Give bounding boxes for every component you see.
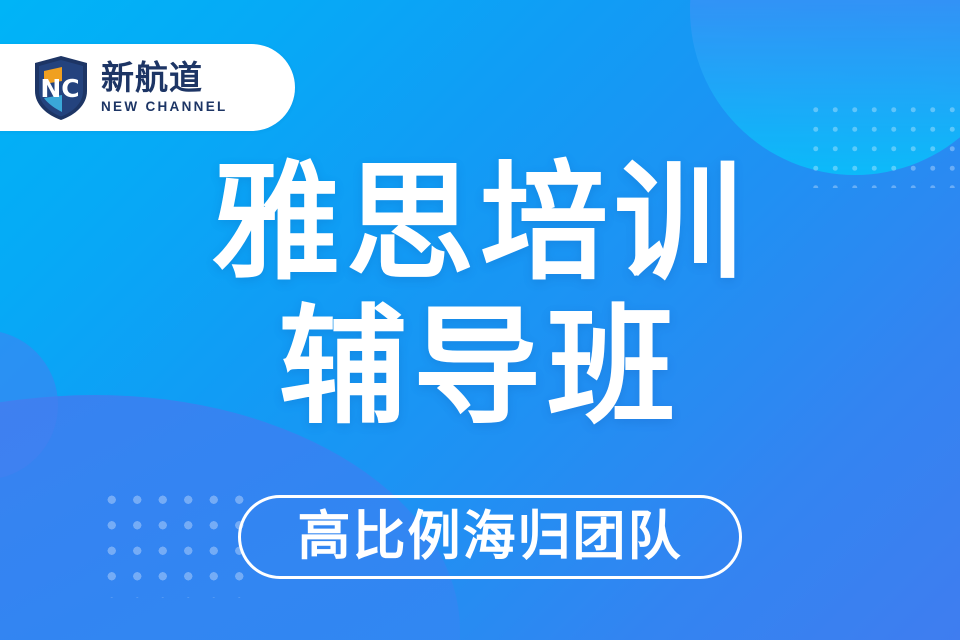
subtitle-pill: 高比例海归团队 <box>238 495 742 579</box>
svg-text:NC: NC <box>40 74 79 103</box>
brand-name-en: NEW CHANNEL <box>101 98 228 115</box>
headline-line-1: 雅思培训 <box>0 148 960 300</box>
headline-block: 雅思培训 辅导班 <box>0 148 960 444</box>
dot-grid-bottom-left <box>95 483 255 598</box>
headline-line-2: 辅导班 <box>0 292 960 444</box>
poster-canvas: NC 新航道 NEW CHANNEL 雅思培训 辅导班 高比例海归团队 <box>0 0 960 640</box>
brand-logo-pill: NC 新航道 NEW CHANNEL <box>0 44 295 131</box>
subtitle-text: 高比例海归团队 <box>298 508 683 566</box>
brand-logo-text: 新航道 NEW CHANNEL <box>101 60 228 115</box>
brand-name-cn: 新航道 <box>101 60 228 96</box>
shield-logo-icon: NC <box>32 55 90 121</box>
